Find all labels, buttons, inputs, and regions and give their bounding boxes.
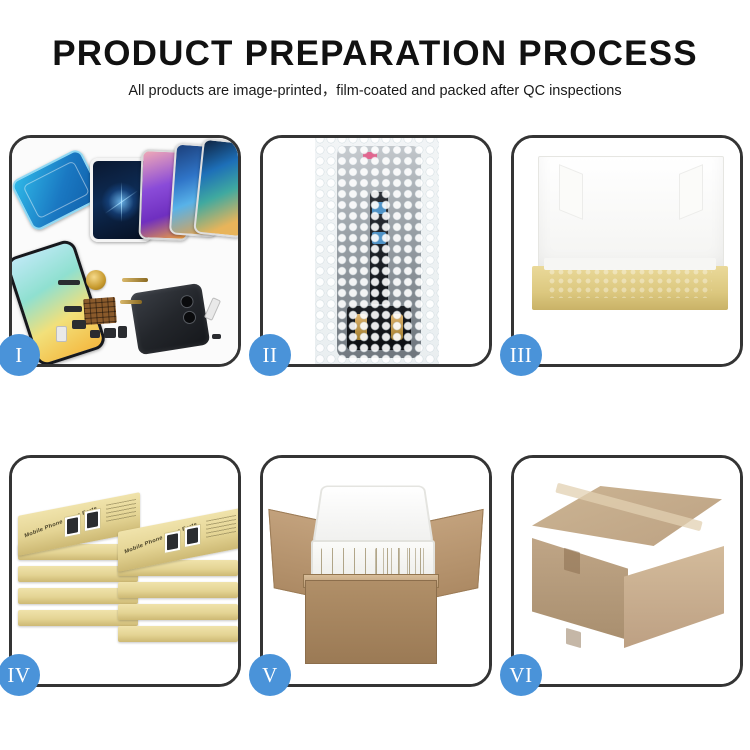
small-part — [56, 326, 67, 342]
page-header: PRODUCT PREPARATION PROCESS All products… — [0, 0, 750, 102]
step-v-illustration — [263, 458, 489, 684]
step-vi-illustration — [514, 458, 740, 684]
process-step-panel-i[interactable]: I — [9, 135, 241, 367]
box-spec-lines — [106, 499, 136, 523]
page-title: PRODUCT PREPARATION PROCESS — [0, 34, 750, 74]
lid-flap-left — [559, 164, 583, 220]
step-badge-v: V — [249, 654, 291, 696]
step-badge-iv: IV — [0, 654, 40, 696]
process-step-panel-v[interactable]: V — [260, 455, 492, 687]
small-part — [64, 306, 82, 312]
bubble-wrapped-contents — [548, 268, 712, 298]
bubble-wrap-bag — [315, 138, 439, 364]
step-badge-i: I — [0, 334, 40, 376]
stacked-box — [118, 582, 238, 598]
white-box-lid — [538, 156, 724, 274]
screw-part — [212, 334, 221, 339]
step-badge-ii: II — [249, 334, 291, 376]
step-iii-illustration — [514, 138, 740, 364]
bubble-texture — [315, 138, 439, 364]
small-part — [104, 328, 116, 338]
step-ii-illustration — [263, 138, 489, 364]
lid-flap-right — [679, 164, 703, 220]
small-part — [72, 320, 86, 329]
screen-graphic — [101, 182, 141, 222]
camera-lens-icon — [180, 294, 195, 309]
box-window — [84, 508, 101, 532]
chip-board-part — [83, 297, 117, 325]
flex-cable-part — [122, 278, 148, 282]
box-window — [64, 514, 81, 538]
page-subtitle: All products are image-printed，film-coat… — [0, 80, 750, 102]
process-step-panel-iv[interactable]: Mobile Phone Spare Parts Mobile Phone Sp… — [9, 455, 241, 687]
copper-coil-part — [86, 270, 106, 290]
foam-lid — [312, 486, 434, 546]
step-badge-iii: III — [500, 334, 542, 376]
yellow-box-tray — [532, 266, 728, 310]
small-part — [118, 326, 127, 338]
process-step-panel-vi[interactable]: VI — [511, 455, 743, 687]
small-part — [58, 280, 80, 285]
carton-tape-upper — [564, 548, 580, 575]
process-step-grid: I II — [0, 135, 750, 687]
small-part — [90, 330, 100, 338]
stacked-box — [118, 604, 238, 620]
flex-cable-part — [120, 300, 142, 304]
process-step-panel-iii[interactable]: III — [511, 135, 743, 367]
box-spec-lines — [206, 515, 236, 539]
camera-lens-icon — [182, 310, 197, 325]
step-i-illustration — [12, 138, 238, 364]
stacked-box — [118, 626, 238, 642]
box-window — [184, 524, 201, 548]
box-window — [164, 530, 181, 554]
carton-body — [305, 580, 437, 664]
step-iv-illustration: Mobile Phone Spare Parts Mobile Phone Sp… — [12, 458, 238, 684]
phone-back-housing — [130, 283, 211, 356]
process-step-panel-ii[interactable]: II — [260, 135, 492, 367]
step-badge-vi: VI — [500, 654, 542, 696]
